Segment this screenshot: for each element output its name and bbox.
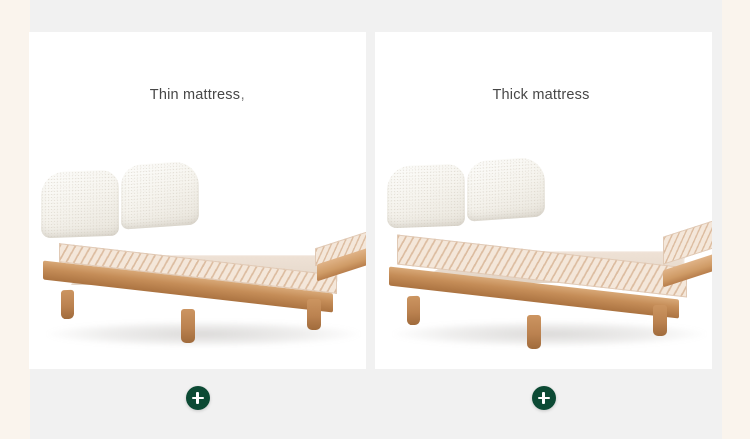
option-picker-screen: Thin mattress,	[0, 0, 750, 439]
mattress-option-row: Thin mattress,	[29, 32, 721, 417]
headboard-cushion-right	[121, 160, 199, 229]
plus-icon-vertical	[196, 392, 198, 404]
plus-icon-vertical	[542, 392, 544, 404]
bed-leg-center	[181, 309, 195, 343]
bed-illustration-thin	[29, 159, 366, 369]
option-label-text: Thin mattress	[150, 87, 240, 103]
bed-leg-center	[527, 315, 541, 349]
option-image-thin-mattress[interactable]: Thin mattress,	[29, 32, 366, 369]
option-card-thick-mattress[interactable]: Thick mattress	[375, 32, 712, 417]
headboard-cushion-left	[387, 164, 465, 229]
option-label-thick-mattress: Thick mattress	[375, 86, 712, 104]
option-label-text: Thick mattress	[492, 87, 589, 103]
bed-leg-right	[653, 305, 667, 336]
add-thin-mattress-button[interactable]	[186, 386, 210, 410]
page-right-edge-strip	[722, 0, 750, 439]
option-card-thin-mattress[interactable]: Thin mattress,	[29, 32, 366, 417]
bed-leg-left	[407, 296, 420, 325]
bed-leg-left	[61, 290, 74, 319]
headboard-cushion-left	[41, 170, 119, 239]
page-left-edge-strip	[0, 0, 30, 439]
bed-illustration-thick	[375, 159, 712, 369]
add-thick-mattress-button[interactable]	[532, 386, 556, 410]
option-image-thick-mattress[interactable]: Thick mattress	[375, 32, 712, 369]
bed-leg-right	[307, 299, 321, 330]
add-row-thin-mattress	[29, 386, 366, 417]
option-label-clipped-glyph: ,	[240, 86, 245, 104]
add-row-thick-mattress	[375, 386, 712, 417]
headboard-cushion-right	[467, 156, 545, 221]
option-label-thin-mattress: Thin mattress,	[29, 86, 366, 104]
